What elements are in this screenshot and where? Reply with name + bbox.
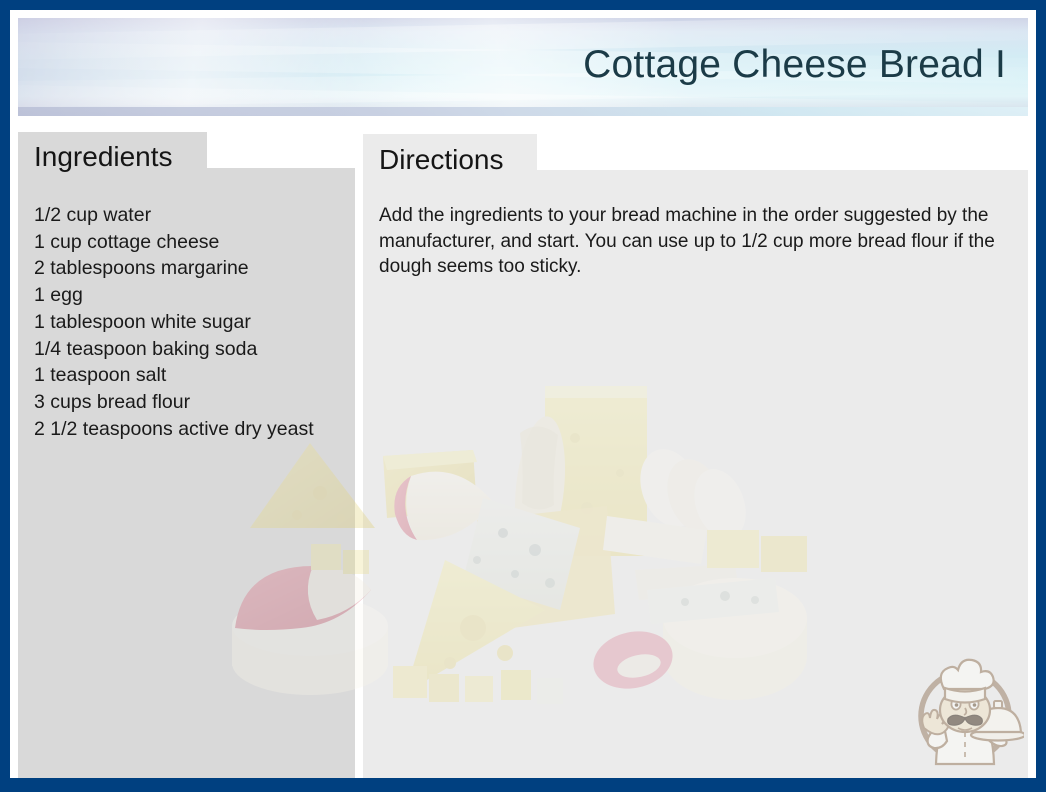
recipe-card-inner-frame: Cottage Cheese Bread I xyxy=(10,10,1036,778)
ingredient-list: 1/2 cup water 1 cup cottage cheese 2 tab… xyxy=(34,202,354,442)
ingredients-heading: Ingredients xyxy=(34,141,173,173)
directions-text: Add the ingredients to your bread machin… xyxy=(379,203,1007,280)
chef-mascot-logo xyxy=(906,642,1024,770)
list-item: 1/2 cup water xyxy=(34,202,354,229)
banner-bottom-strip xyxy=(18,107,1028,116)
recipe-card: Cottage Cheese Bread I xyxy=(0,0,1046,792)
page-title: Cottage Cheese Bread I xyxy=(583,43,1006,87)
list-item: 1 teaspoon salt xyxy=(34,362,354,389)
list-item: 2 1/2 teaspoons active dry yeast xyxy=(34,416,354,443)
list-item: 1 cup cottage cheese xyxy=(34,229,354,256)
list-item: 1 tablespoon white sugar xyxy=(34,309,354,336)
list-item: 1/4 teaspoon baking soda xyxy=(34,336,354,363)
list-item: 2 tablespoons margarine xyxy=(34,255,354,282)
list-item: 1 egg xyxy=(34,282,354,309)
title-banner: Cottage Cheese Bread I xyxy=(18,18,1028,116)
directions-heading: Directions xyxy=(379,144,503,176)
chef-hat-icon xyxy=(941,660,994,703)
list-item: 3 cups bread flour xyxy=(34,389,354,416)
